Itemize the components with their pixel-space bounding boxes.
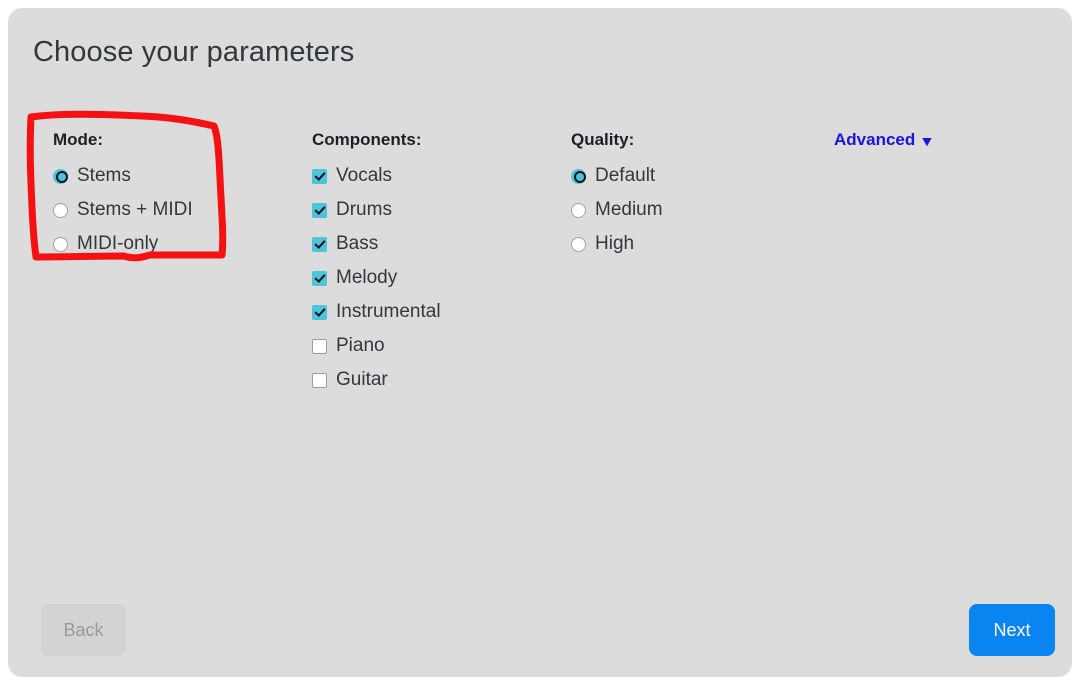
checkbox-label-bass: Bass [336, 233, 378, 255]
checkbox-label-drums: Drums [336, 199, 392, 221]
checkbox-option-drums[interactable]: Drums [312, 193, 441, 227]
radio-option-stems-midi[interactable]: Stems + MIDI [53, 193, 193, 227]
advanced-label: Advanced [834, 130, 915, 150]
radio-label-stems-midi: Stems + MIDI [77, 199, 193, 221]
radio-icon-medium[interactable] [571, 203, 586, 218]
checkbox-option-bass[interactable]: Bass [312, 227, 441, 261]
quality-group: Quality: Default Medium High [571, 130, 663, 261]
checkbox-icon-bass[interactable] [312, 237, 327, 252]
back-button[interactable]: Back [41, 604, 126, 656]
radio-icon-default[interactable] [571, 169, 586, 184]
checkbox-icon-vocals[interactable] [312, 169, 327, 184]
radio-icon-stems[interactable] [53, 169, 68, 184]
parameters-panel: Choose your parameters Mode: Stems Stems… [8, 8, 1072, 677]
radio-label-midi-only: MIDI-only [77, 233, 158, 255]
checkbox-icon-instrumental[interactable] [312, 305, 327, 320]
checkbox-label-guitar: Guitar [336, 369, 388, 391]
checkbox-option-vocals[interactable]: Vocals [312, 159, 441, 193]
checkbox-icon-guitar[interactable] [312, 373, 327, 388]
radio-option-medium[interactable]: Medium [571, 193, 663, 227]
checkbox-label-instrumental: Instrumental [336, 301, 441, 323]
next-button[interactable]: Next [969, 604, 1055, 656]
mode-group-title: Mode: [53, 130, 193, 150]
radio-icon-high[interactable] [571, 237, 586, 252]
radio-option-default[interactable]: Default [571, 159, 663, 193]
checkbox-label-melody: Melody [336, 267, 397, 289]
checkbox-icon-melody[interactable] [312, 271, 327, 286]
checkbox-label-piano: Piano [336, 335, 385, 357]
components-group-title: Components: [312, 130, 441, 150]
radio-option-stems[interactable]: Stems [53, 159, 193, 193]
checkbox-icon-drums[interactable] [312, 203, 327, 218]
radio-label-medium: Medium [595, 199, 663, 221]
checkbox-option-melody[interactable]: Melody [312, 261, 441, 295]
radio-label-stems: Stems [77, 165, 131, 187]
radio-label-default: Default [595, 165, 655, 187]
radio-option-high[interactable]: High [571, 227, 663, 261]
radio-option-midi-only[interactable]: MIDI-only [53, 227, 193, 261]
page-title: Choose your parameters [33, 36, 354, 69]
checkbox-icon-piano[interactable] [312, 339, 327, 354]
mode-group: Mode: Stems Stems + MIDI MIDI-only [53, 130, 193, 261]
radio-icon-stems-midi[interactable] [53, 203, 68, 218]
chevron-down-icon: ▼ [919, 134, 935, 148]
advanced-toggle[interactable]: Advanced ▼ [834, 130, 934, 150]
checkbox-label-vocals: Vocals [336, 165, 392, 187]
radio-label-high: High [595, 233, 634, 255]
checkbox-option-piano[interactable]: Piano [312, 329, 441, 363]
checkbox-option-instrumental[interactable]: Instrumental [312, 295, 441, 329]
components-group: Components: Vocals Drums Bass Melody Ins… [312, 130, 441, 397]
radio-icon-midi-only[interactable] [53, 237, 68, 252]
checkbox-option-guitar[interactable]: Guitar [312, 363, 441, 397]
quality-group-title: Quality: [571, 130, 663, 150]
app-screen: Choose your parameters Mode: Stems Stems… [0, 0, 1082, 685]
